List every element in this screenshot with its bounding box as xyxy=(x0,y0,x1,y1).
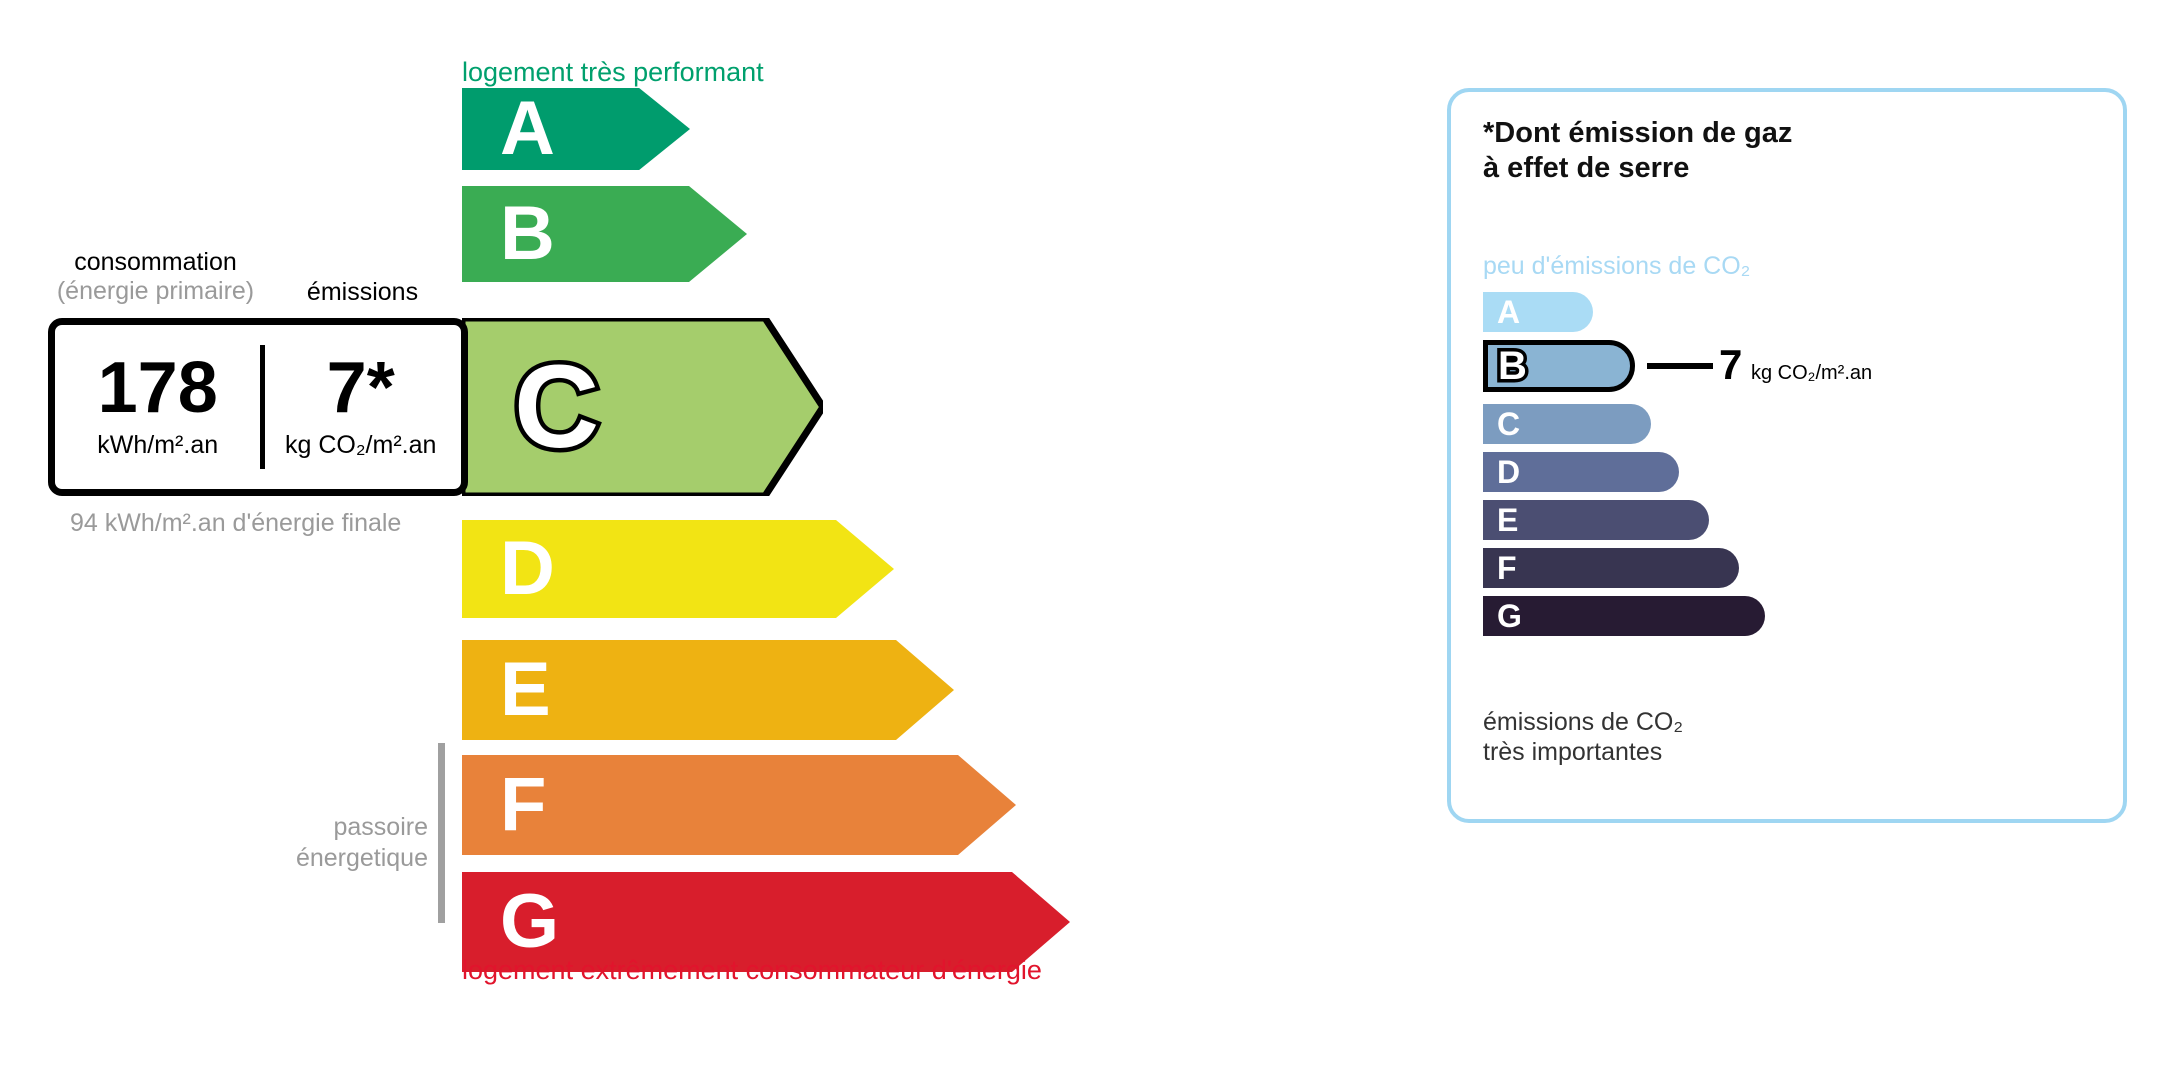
co2-bar-letter-d: D xyxy=(1497,456,1520,488)
final-energy-note: 94 kWh/m².an d'énergie finale xyxy=(70,508,401,539)
band-letter-a: A xyxy=(500,91,555,167)
band-letter-g: G xyxy=(500,884,559,960)
consumption-header: consommation (énergie primaire) xyxy=(48,248,263,306)
passoire-marker-bar xyxy=(438,743,445,923)
consumption-unit: kWh/m².an xyxy=(97,431,218,460)
co2-bar-letter-f: F xyxy=(1497,552,1517,584)
co2-panel: *Dont émission de gaz à effet de serre p… xyxy=(1447,88,2127,823)
co2-bottom-label: émissions de CO₂ très importantes xyxy=(1483,707,1683,767)
value-box: 178 kWh/m².an 7* kg CO₂/m².an xyxy=(48,318,468,496)
co2-panel-title: *Dont émission de gaz à effet de serre xyxy=(1483,116,1792,186)
band-letter-f: F xyxy=(500,767,546,843)
co2-bar-d: D xyxy=(1483,452,1679,492)
energy-band-d: D xyxy=(462,520,894,618)
emission-header: émissions xyxy=(270,278,455,307)
co2-bar-letter-c: C xyxy=(1497,408,1520,440)
consumption-cell: 178 kWh/m².an xyxy=(55,325,260,489)
passoire-label: passoire énergetique xyxy=(230,812,428,875)
co2-bar-letter-g: G xyxy=(1497,600,1522,632)
co2-bar-letter-a: A xyxy=(1497,296,1520,328)
co2-top-label: peu d'émissions de CO₂ xyxy=(1483,252,1750,281)
band-letter-b: B xyxy=(500,196,555,272)
consumption-header-title: consommation xyxy=(74,248,237,276)
band-letter-e: E xyxy=(500,652,551,728)
energy-band-c: C xyxy=(462,318,823,496)
scale-top-caption: logement très performant xyxy=(462,57,764,88)
energy-band-f: F xyxy=(462,755,1016,855)
co2-bar-e: E xyxy=(1483,500,1709,540)
energy-band-a: A xyxy=(462,88,690,170)
band-letter-c: C xyxy=(514,348,599,466)
co2-value: 7 xyxy=(1719,341,1742,389)
co2-bar-a: A xyxy=(1483,292,1593,332)
band-arrow-shape-a xyxy=(462,88,690,170)
co2-bar-f: F xyxy=(1483,548,1739,588)
co2-bar-g: G xyxy=(1483,596,1765,636)
co2-bar-letter-b: B xyxy=(1498,346,1527,386)
emission-unit: kg CO₂/m².an xyxy=(285,431,436,460)
consumption-header-sub: (énergie primaire) xyxy=(48,277,263,306)
band-letter-d: D xyxy=(500,531,555,607)
consumption-value: 178 xyxy=(98,354,218,422)
co2-bar-b: B xyxy=(1483,340,1635,392)
co2-leader-line xyxy=(1647,363,1713,369)
energy-band-b: B xyxy=(462,186,747,282)
scale-bottom-caption: logement extrêmement consommateur d'éner… xyxy=(462,955,1042,986)
energy-band-e: E xyxy=(462,640,954,740)
emission-cell: 7* kg CO₂/m².an xyxy=(260,325,461,489)
co2-bar-c: C xyxy=(1483,404,1651,444)
co2-value-unit: kg CO₂/m².an xyxy=(1751,362,1872,385)
energy-performance-scale: logement très performant ABCDEFG 178 kWh… xyxy=(0,0,1400,1079)
emission-value: 7* xyxy=(327,354,395,422)
co2-bar-letter-e: E xyxy=(1497,504,1518,536)
